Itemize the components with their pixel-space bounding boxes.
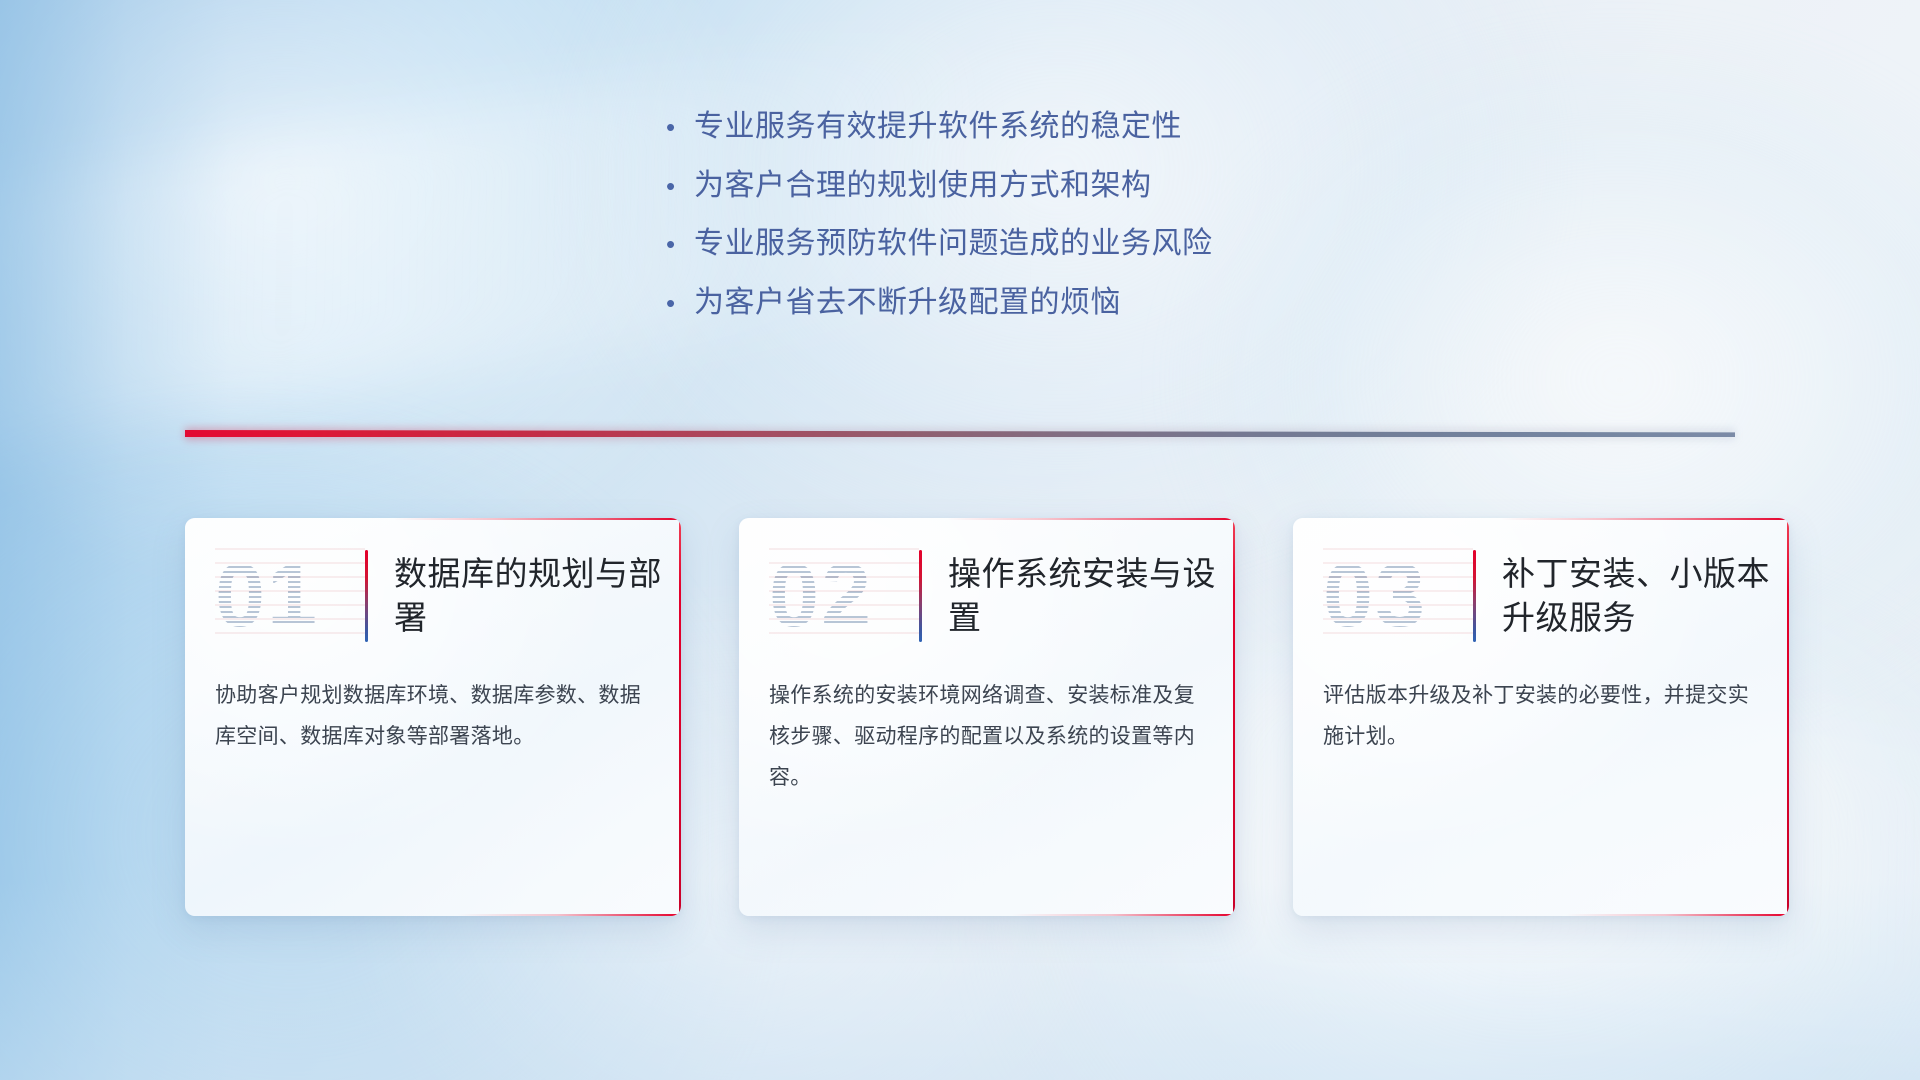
card-bottom-accent-line xyxy=(739,914,1235,916)
card-number: 01 xyxy=(215,551,365,641)
bullet-marker-icon: • xyxy=(660,173,694,199)
card-title: 操作系统安装与设置 xyxy=(948,552,1235,639)
service-card-03[interactable]: 03 补丁安装、小版本升级服务 评估版本升级及补丁安装的必要性，并提交实施计划。 xyxy=(1293,518,1789,916)
card-title-accent-bar xyxy=(1473,550,1476,642)
section-divider xyxy=(185,424,1735,446)
card-body-text: 操作系统的安装环境网络调查、安装标准及复核步骤、驱动程序的配置以及系统的设置等内… xyxy=(739,646,1235,799)
card-title-accent-bar xyxy=(919,550,922,642)
service-card-01[interactable]: 01 数据库的规划与部署 协助客户规划数据库环境、数据库参数、数据库空间、数据库… xyxy=(185,518,681,916)
card-title: 补丁安装、小版本升级服务 xyxy=(1502,552,1789,639)
bullet-item-label: 专业服务预防软件问题造成的业务风险 xyxy=(694,225,1213,263)
bullet-item-label: 专业服务有效提升软件系统的稳定性 xyxy=(694,108,1182,146)
card-bottom-accent-line xyxy=(185,914,681,916)
bullet-item: • 为客户省去不断升级配置的烦恼 xyxy=(660,284,1480,322)
bullet-marker-icon: • xyxy=(660,290,694,316)
bullet-item: • 专业服务预防软件问题造成的业务风险 xyxy=(660,225,1480,263)
bullet-item: • 专业服务有效提升软件系统的稳定性 xyxy=(660,108,1480,146)
card-number: 02 xyxy=(769,551,919,641)
card-number: 03 xyxy=(1323,551,1473,641)
bullet-item: • 为客户合理的规划使用方式和架构 xyxy=(660,167,1480,205)
bullet-marker-icon: • xyxy=(660,114,694,140)
bullet-item-label: 为客户合理的规划使用方式和架构 xyxy=(694,167,1152,205)
card-title: 数据库的规划与部署 xyxy=(394,552,681,639)
card-body-text: 协助客户规划数据库环境、数据库参数、数据库空间、数据库对象等部署落地。 xyxy=(185,646,681,758)
card-header: 03 补丁安装、小版本升级服务 xyxy=(1293,518,1789,646)
benefits-bullet-list: • 专业服务有效提升软件系统的稳定性 • 为客户合理的规划使用方式和架构 • 专… xyxy=(660,108,1480,342)
service-card-02[interactable]: 02 操作系统安装与设置 操作系统的安装环境网络调查、安装标准及复核步骤、驱动程… xyxy=(739,518,1235,916)
card-body-text: 评估版本升级及补丁安装的必要性，并提交实施计划。 xyxy=(1293,646,1789,758)
service-card-list: 01 数据库的规划与部署 协助客户规划数据库环境、数据库参数、数据库空间、数据库… xyxy=(185,518,1805,916)
card-header: 01 数据库的规划与部署 xyxy=(185,518,681,646)
slide-canvas: • 专业服务有效提升软件系统的稳定性 • 为客户合理的规划使用方式和架构 • 专… xyxy=(0,0,1920,1080)
bullet-marker-icon: • xyxy=(660,231,694,257)
card-header: 02 操作系统安装与设置 xyxy=(739,518,1235,646)
card-title-accent-bar xyxy=(365,550,368,642)
bullet-item-label: 为客户省去不断升级配置的烦恼 xyxy=(694,284,1121,322)
card-bottom-accent-line xyxy=(1293,914,1789,916)
